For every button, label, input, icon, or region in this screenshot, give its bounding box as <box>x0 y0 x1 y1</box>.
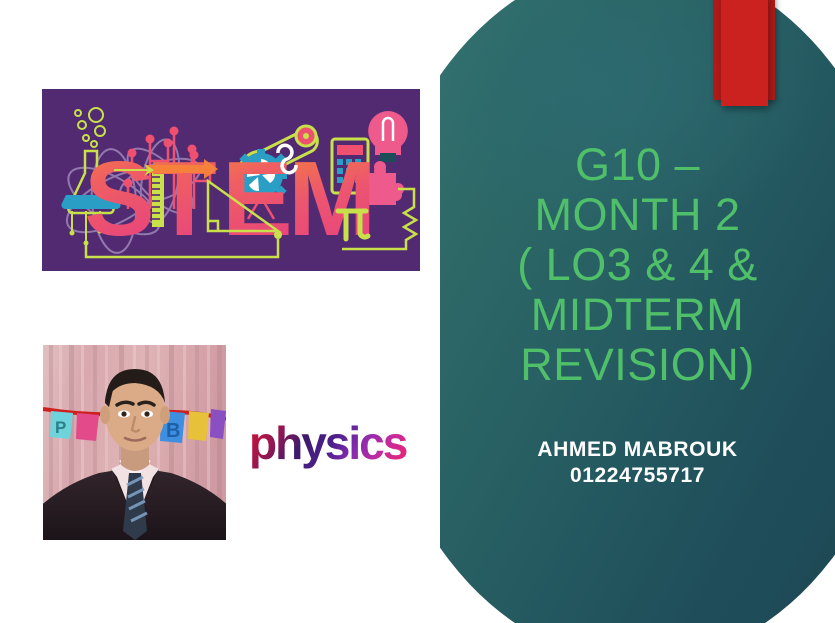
title-line-5: REVISION) <box>455 340 820 390</box>
slide: S T E M <box>0 0 835 623</box>
title-line-1: G10 – <box>455 140 820 190</box>
presenter-photo-svg: P B <box>43 345 226 540</box>
svg-text:S: S <box>84 140 153 258</box>
physics-wordmark-svg: physics <box>247 415 412 473</box>
presenter-info: AHMED MABROUK 01224755717 <box>455 437 820 489</box>
page-title: G10 – MONTH 2 ( LO3 & 4 & MIDTERM REVISI… <box>455 140 820 390</box>
stem-wordmark: S T E M <box>84 140 374 258</box>
ribbon-front-layer <box>721 0 768 106</box>
title-panel: G10 – MONTH 2 ( LO3 & 4 & MIDTERM REVISI… <box>440 0 835 623</box>
presenter-phone: 01224755717 <box>455 463 820 489</box>
title-panel-clip: G10 – MONTH 2 ( LO3 & 4 & MIDTERM REVISI… <box>440 0 835 623</box>
svg-text:B: B <box>166 420 180 442</box>
svg-text:P: P <box>55 418 66 437</box>
presenter-name: AHMED MABROUK <box>455 437 820 463</box>
svg-text:T: T <box>152 140 216 258</box>
title-line-4: MIDTERM <box>455 290 820 340</box>
svg-text:M: M <box>288 140 374 258</box>
title-line-3: ( LO3 & 4 & <box>455 240 820 290</box>
presenter-photo: P B <box>43 345 226 540</box>
title-line-2: MONTH 2 <box>455 190 820 240</box>
stem-illustration-svg: S T E M <box>42 89 420 271</box>
svg-text:physics: physics <box>249 417 407 469</box>
stem-illustration: S T E M <box>42 89 420 271</box>
red-ribbon-decoration <box>440 0 835 130</box>
physics-wordmark: physics <box>247 415 412 473</box>
